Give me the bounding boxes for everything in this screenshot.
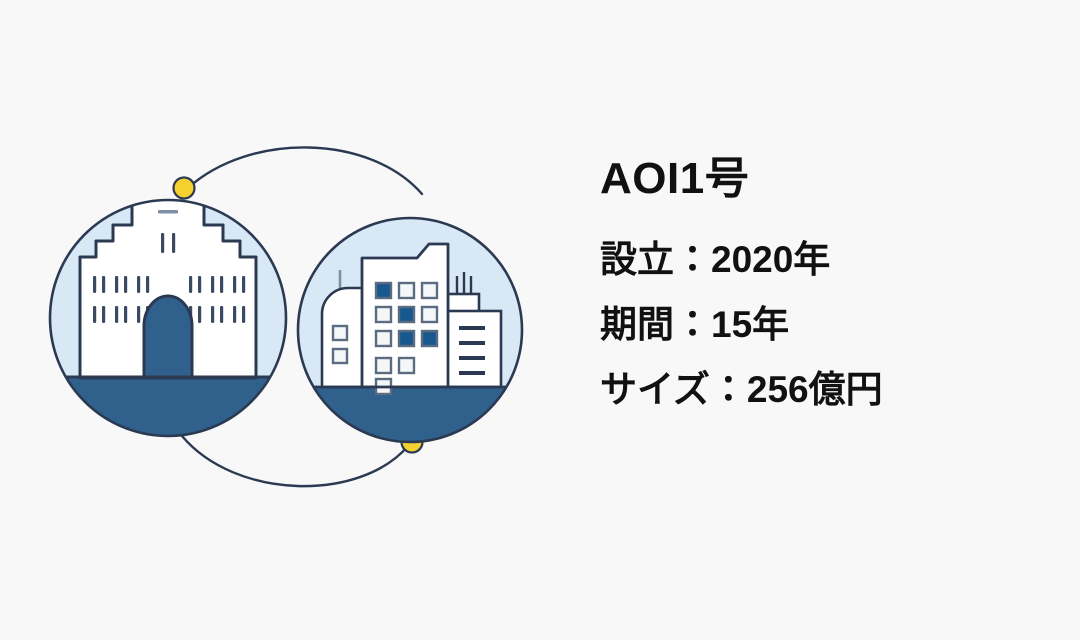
right-annex-rooftop-box (448, 294, 479, 312)
left-annex-window (333, 326, 347, 340)
tower-divider-bar (158, 210, 178, 214)
office-window (399, 283, 414, 298)
campus-arch-entrance (144, 296, 192, 378)
tower-window-slit (172, 233, 175, 253)
spec-row-establishment: 設立：2020年 (600, 241, 1040, 278)
spec-label: 期間 (600, 304, 674, 345)
fund-title: AOI1号 (600, 155, 1040, 203)
spec-row-term: 期間：15年 (600, 306, 1040, 343)
right-annex-window-bar (459, 341, 485, 345)
office-tower (362, 244, 448, 394)
office-window-blue (422, 331, 437, 346)
spec-value: 15年 (711, 304, 789, 345)
office-window-blue (399, 307, 414, 322)
left-ground-fill (40, 376, 320, 510)
spec-label: 設立 (600, 239, 674, 280)
office-window (399, 358, 414, 373)
top-connector-arc (174, 147, 423, 198)
two-circles-buildings-illustration (40, 130, 560, 510)
office-buildings-circle (280, 218, 550, 510)
spec-separator: ： (674, 239, 711, 280)
spec-value: 256億円 (747, 369, 883, 410)
office-window (376, 358, 391, 373)
office-window (376, 331, 391, 346)
right-annex-window-bar (459, 356, 485, 360)
fund-info-panel: AOI1号 設立：2020年 期間：15年 サイズ：256億円 (600, 155, 1040, 408)
office-window (422, 283, 437, 298)
right-annex-silhouette (445, 311, 501, 387)
fund-summary-card: AOI1号 設立：2020年 期間：15年 サイズ：256億円 (0, 0, 1080, 640)
top-accent-dot-icon (174, 178, 195, 199)
campus-main-building (80, 138, 256, 378)
spec-separator: ： (710, 369, 747, 410)
spec-row-size: サイズ：256億円 (600, 371, 1040, 408)
office-window-blue (399, 331, 414, 346)
right-annex-window-bar (459, 326, 485, 330)
left-annex-window (333, 349, 347, 363)
office-window (376, 307, 391, 322)
tower-window-slit (161, 233, 164, 253)
illustration-panel (40, 130, 560, 510)
spec-separator: ： (674, 304, 711, 345)
office-window-blue (376, 283, 391, 298)
right-annex-window-bar (459, 371, 485, 375)
spec-value: 2020年 (711, 239, 830, 280)
office-window (422, 307, 437, 322)
spec-label: サイズ (600, 369, 710, 410)
